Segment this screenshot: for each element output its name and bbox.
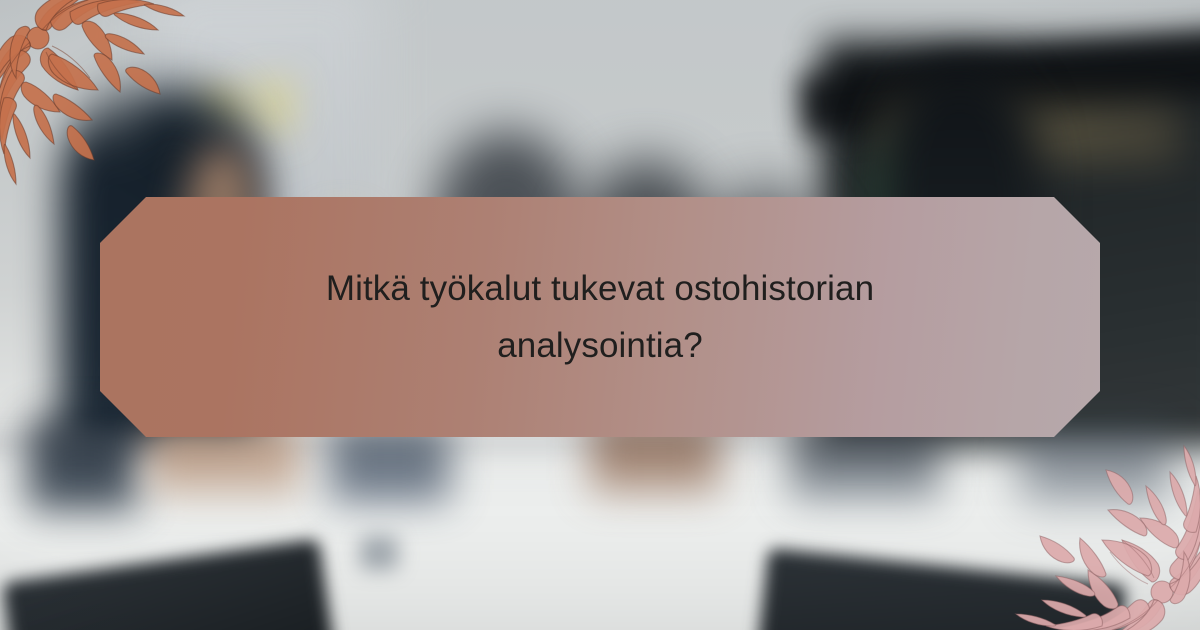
headline-text: Mitkä työkalut tukevat ostohistorian ana… [240,260,960,374]
headline-banner: Mitkä työkalut tukevat ostohistorian ana… [100,197,1100,437]
share-card: Mitkä työkalut tukevat ostohistorian ana… [0,0,1200,630]
